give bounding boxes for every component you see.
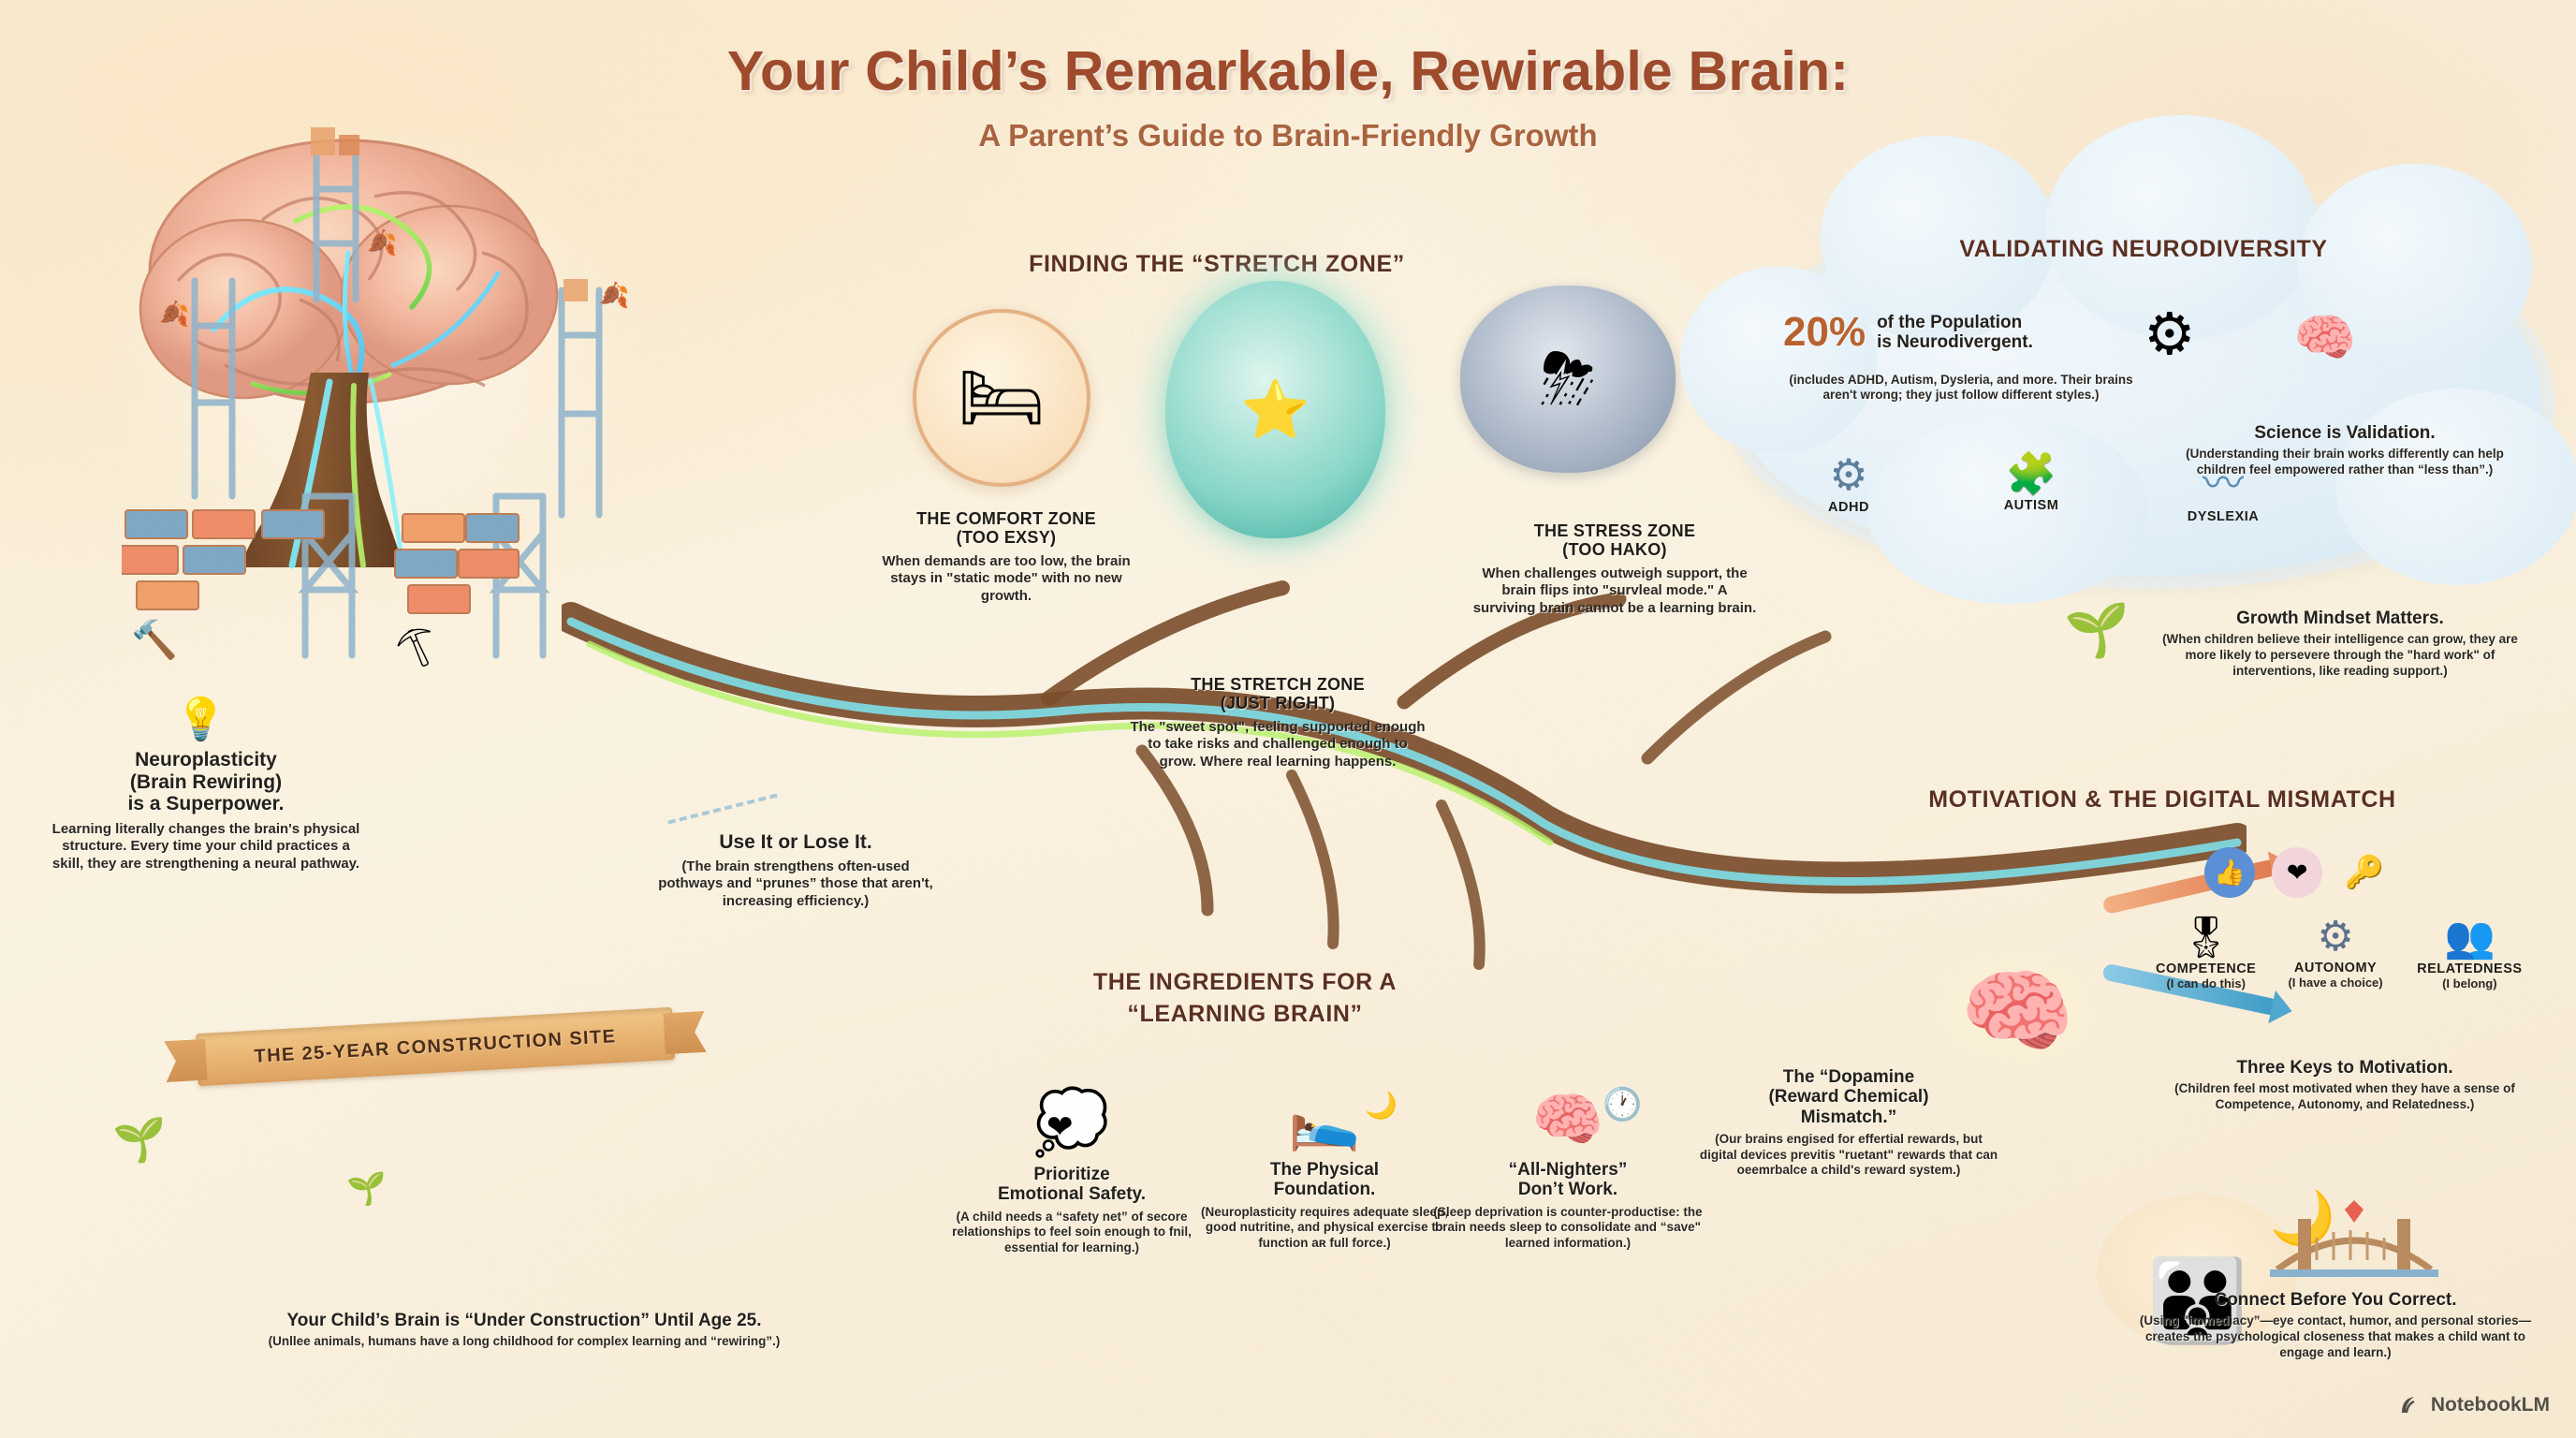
three-keys-icon-row: 🎖 COMPETENCE (I can do this) ⚙ AUTONOMY … xyxy=(2144,913,2537,990)
winged-puzzle-piece-icon: 🧩 xyxy=(1961,449,2101,498)
dopamine-title-2: (Reward Chemical) xyxy=(1699,1087,1998,1107)
science-validation-title: Science is Validation. xyxy=(2172,423,2518,443)
adhd-label: ADHD xyxy=(1778,500,1919,515)
stress-zone-block: THE STRESS ZONE (TOO HAKO) When challeng… xyxy=(1470,522,1760,617)
steering-wheel-icon: ⚙ xyxy=(2268,913,2402,961)
relatedness-label: RELATEDNESS xyxy=(2403,961,2537,976)
moon-icon: 🌙 xyxy=(1365,1090,1398,1121)
stretch-zone-heading: FINDING THE “STRETCH ZONE” xyxy=(936,251,1498,278)
stretch-zone-title-2: (JUST RIGHT) xyxy=(1128,695,1427,713)
competence-sub: (I can do this) xyxy=(2144,976,2268,990)
learning-brain-heading-2: “LEARNING BRAIN” xyxy=(983,1001,1507,1028)
all-nighters-body: (Sleep deprivation is counter-productise… xyxy=(1432,1205,1704,1252)
plant-icon: 🌱 xyxy=(112,1114,166,1166)
autonomy-label: AUTONOMY xyxy=(2268,961,2402,976)
learning-brain-heading: THE INGREDIENTS FOR A “LEARNING BRAIN” xyxy=(983,969,1507,1028)
under-construction-body: (Unllee animals, humans have a long chil… xyxy=(112,1334,936,1350)
autonomy-sub: (I have a choice) xyxy=(2268,976,2402,990)
thumbs-up-icon: 👍 xyxy=(2204,847,2255,898)
neurodiversity-stat: 20% of the Population is Neurodivergent. xyxy=(1783,309,2176,356)
learning-brain-item-all-nighters: 🧠 🕐 “All-Nighters” Don’t Work. (Sleep de… xyxy=(1432,1086,1704,1252)
infographic-canvas: Your Child’s Remarkable, Rewirable Brain… xyxy=(0,0,2576,1438)
autism-label: AUTISM xyxy=(1961,498,2101,513)
stretch-zone-icon: ⭐ xyxy=(1165,281,1385,538)
science-validation-block: Science is Validation. (Understanding th… xyxy=(2172,423,2518,478)
three-keys-block: Three Keys to Motivation. (Children feel… xyxy=(2144,1058,2546,1113)
gear-icon: ⚙ xyxy=(1778,449,1919,500)
emotional-safety-body: (A child needs a “safety net” of secore … xyxy=(936,1210,1207,1256)
learning-brain-item-emotional-safety: 💭 ❤ Prioritize Emotional Safety. (A chil… xyxy=(936,1086,1207,1256)
stat-label-line-2: is Neurodivergent. xyxy=(1877,332,2033,352)
neuroplasticity-body: Learning literally changes the brain's p… xyxy=(51,821,360,873)
stress-zone-body: When challenges outweigh support, the br… xyxy=(1470,565,1760,618)
rainbow-brain-icon: 🧠 xyxy=(1914,941,2120,1081)
gear-brain-icon: ⚙ xyxy=(2144,300,2196,368)
notebooklm-watermark: NotebookLM xyxy=(2398,1393,2550,1417)
learning-brain-heading-1: THE INGREDIENTS FOR A xyxy=(983,969,1507,996)
neurodiversity-heading-text: VALIDATING NEURODIVERSITY xyxy=(1778,236,2509,263)
notebooklm-logo-icon xyxy=(2398,1393,2422,1417)
leaf-icon: 🍂 xyxy=(367,228,397,257)
physical-foundation-body: (Neuroplasticity requires adequate sleep… xyxy=(1189,1205,1460,1252)
comfort-zone-title-1: THE COMFORT ZONE xyxy=(880,510,1133,529)
dyslexia-label: DYSLEXIA xyxy=(2144,509,2303,524)
stress-zone-icon: ⛈ xyxy=(1460,286,1676,473)
neuroplasticity-title-line-1: Neuroplasticity xyxy=(51,749,360,771)
people-group-icon: 👥 xyxy=(2403,913,2537,961)
stretch-zone-heading-text: FINDING THE “STRETCH ZONE” xyxy=(936,251,1498,278)
growth-mindset-title: Growth Mindset Matters. xyxy=(2153,609,2527,628)
science-validation-body: (Understanding their brain works differe… xyxy=(2172,447,2518,477)
plant-icon: 🌱 xyxy=(346,1170,386,1208)
key-item-competence: 🎖 COMPETENCE (I can do this) xyxy=(2144,913,2268,990)
neurodiversity-stat-note: (includes ADHD, Autism, Dysleria, and mo… xyxy=(1774,373,2148,404)
leaf-icon: 🍂 xyxy=(159,300,189,329)
heart-badge-icon: ❤ xyxy=(2272,847,2322,898)
comfort-zone-block: THE COMFORT ZONE (TOO EXSY) When demands… xyxy=(880,510,1133,605)
connect-body: (Using "immediacy”—eye contact, humor, a… xyxy=(2125,1313,2546,1360)
stretch-zone-body: The "sweet spot", feeling supported enou… xyxy=(1128,719,1427,771)
all-nighters-title-1: “All-Nighters” xyxy=(1432,1160,1704,1180)
motivation-heading-text: MOTIVATION & THE DIGITAL MISMATCH xyxy=(1807,786,2518,814)
competence-label: COMPETENCE xyxy=(2144,961,2268,976)
main-title: Your Child’s Remarkable, Rewirable Brain… xyxy=(0,39,2576,103)
neuroplasticity-title-line-2: (Brain Rewiring) xyxy=(51,771,360,794)
leaf-icon: 🍂 xyxy=(599,281,629,310)
clock-icon: 🕐 xyxy=(1603,1086,1642,1123)
lightbulb-icon: 💡 xyxy=(175,695,227,743)
neuroplasticity-title-line-3: is a Superpower. xyxy=(51,793,360,815)
reward-badges-row: 👍 ❤ 🔑 xyxy=(2204,847,2448,898)
key-item-relatedness: 👥 RELATEDNESS (I belong) xyxy=(2403,913,2537,990)
bed-moon-icon: 🛌 xyxy=(1189,1086,1460,1154)
growth-mindset-body: (When children believe their intelligenc… xyxy=(2153,632,2527,679)
three-keys-title: Three Keys to Motivation. xyxy=(2144,1058,2546,1078)
key-item-autonomy: ⚙ AUTONOMY (I have a choice) xyxy=(2268,913,2402,990)
stretch-zone-block: THE STRETCH ZONE (JUST RIGHT) The "sweet… xyxy=(1128,676,1427,770)
construction-tools-icon: 🔨 xyxy=(131,618,178,662)
comfort-zone-title-2: (TOO EXSY) xyxy=(880,529,1133,548)
dopamine-body: (Our brains engised for effertial reward… xyxy=(1699,1132,1998,1179)
dopamine-mismatch-block: The “Dopamine (Reward Chemical) Mismatch… xyxy=(1699,1067,1998,1179)
motivation-heading: MOTIVATION & THE DIGITAL MISMATCH xyxy=(1807,786,2518,814)
award-ribbon-icon: 🎖 xyxy=(2144,913,2268,961)
under-construction-block: Your Child’s Brain is “Under Constructio… xyxy=(112,1311,936,1350)
cloud-lobe xyxy=(2335,389,2576,585)
brain-clock-icon: 🧠 xyxy=(1432,1086,1704,1154)
stat-label-line-1: of the Population xyxy=(1877,313,2033,332)
under-construction-title: Your Child’s Brain is “Under Constructio… xyxy=(112,1311,936,1330)
dopamine-title-3: Mismatch.” xyxy=(1699,1108,1998,1127)
connect-title: Connect Before You Correct. xyxy=(2125,1290,2546,1310)
bricks-icon xyxy=(122,501,524,641)
notebooklm-label: NotebookLM xyxy=(2431,1394,2550,1416)
emotional-safety-title-1: Prioritize xyxy=(936,1165,1207,1184)
stress-zone-title-1: THE STRESS ZONE xyxy=(1470,522,1760,541)
dopamine-title-1: The “Dopamine xyxy=(1699,1067,1998,1087)
three-keys-body: (Children feel most motivated when they … xyxy=(2144,1081,2546,1112)
key-icon: 🔑 xyxy=(2339,847,2390,898)
comfort-zone-body: When demands are too low, the brain stay… xyxy=(880,553,1133,606)
neurodivergent-percentage: 20% xyxy=(1783,309,1866,356)
comfort-zone-icon: 🛏 xyxy=(913,309,1090,487)
head-with-brain-icon: 🧠 xyxy=(2293,309,2356,368)
all-nighters-title-2: Don’t Work. xyxy=(1432,1180,1704,1199)
connect-before-correct-block: Connect Before You Correct. (Using "imme… xyxy=(2125,1290,2546,1360)
learning-brain-item-physical-foundation: 🛌 🌙 The Physical Foundation. (Neuroplast… xyxy=(1189,1086,1460,1252)
physical-foundation-title-1: The Physical xyxy=(1189,1160,1460,1180)
heart-icon: ❤ xyxy=(1046,1108,1074,1146)
brain-tree-illustration: 🔨 ⛏ xyxy=(112,131,637,562)
relatedness-sub: (I belong) xyxy=(2403,976,2537,990)
growth-mindset-block: Growth Mindset Matters. (When children b… xyxy=(2153,609,2527,679)
emotional-safety-title-2: Emotional Safety. xyxy=(936,1184,1207,1204)
neurodiversity-item-autism: 🧩 AUTISM xyxy=(1961,449,2101,524)
stretch-zone-title-1: THE STRETCH ZONE xyxy=(1128,676,1427,695)
neuroplasticity-block: 💡 Neuroplasticity (Brain Rewiring) is a … xyxy=(51,749,360,873)
stress-zone-title-2: (TOO HAKO) xyxy=(1470,541,1760,560)
physical-foundation-title-2: Foundation. xyxy=(1189,1180,1460,1199)
neurodiversity-item-adhd: ⚙ ADHD xyxy=(1778,449,1919,524)
sprout-with-roots-icon: 🌱 xyxy=(2064,599,2130,661)
neurodiversity-heading: VALIDATING NEURODIVERSITY xyxy=(1778,236,2509,263)
